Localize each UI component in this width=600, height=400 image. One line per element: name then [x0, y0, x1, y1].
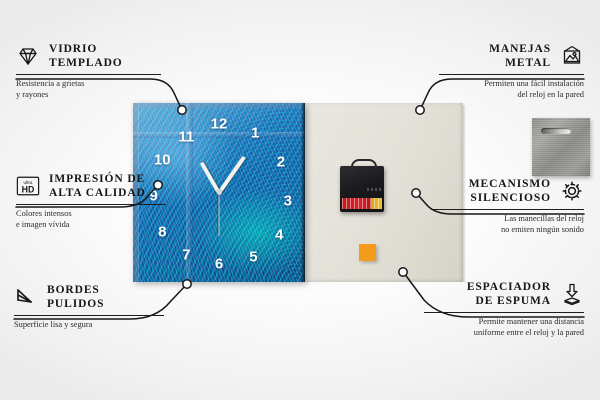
callout-rule — [424, 312, 584, 313]
clock-edge — [301, 103, 305, 282]
diamond-icon — [16, 44, 40, 68]
clock-numeral: 11 — [178, 130, 194, 145]
callout-rule — [439, 74, 584, 75]
clock-second-hand — [219, 193, 220, 237]
infographic-canvas: 12 1 2 3 4 5 6 7 8 9 10 11 — [0, 0, 600, 400]
callout-desc: Permiten una fácil instalación del reloj… — [439, 78, 584, 100]
callout-desc: Resistencia a grietas y rayones — [16, 78, 161, 100]
callout-mechanism: MECANISMO SILENCIOSO Las manecillas del … — [431, 177, 584, 235]
clock-numeral: 1 — [251, 126, 259, 141]
callout-handles: MANEJAS METAL Permiten una fácil instala… — [439, 42, 584, 100]
callout-rule — [431, 209, 584, 210]
callout-glass: VIDRIO TEMPLADO Resistencia a grietas y … — [16, 42, 161, 100]
mechanism-handle — [351, 159, 377, 171]
metal-hanger-plate — [532, 118, 590, 176]
callout-head: ultra HD IMPRESIÓN DE ALTA CALIDAD — [16, 172, 166, 200]
callout-spacer: ESPACIADOR DE ESPUMA Permite mantener un… — [424, 280, 584, 338]
callout-title: VIDRIO TEMPLADO — [49, 42, 123, 70]
foam-spacer — [359, 244, 376, 261]
clock-numeral: 4 — [275, 228, 283, 243]
hanger-slot — [541, 128, 571, 134]
callout-head: MANEJAS METAL — [439, 42, 584, 70]
callout-head: BORDES PULIDOS — [14, 283, 164, 311]
callout-desc: Colores intensos e imagen vívida — [16, 208, 166, 230]
callout-head: VIDRIO TEMPLADO — [16, 42, 161, 70]
callout-title: MANEJAS METAL — [489, 42, 551, 70]
picture-frame-icon — [560, 44, 584, 68]
callout-desc: Superficie lisa y segura — [14, 319, 164, 330]
callout-desc: Permite mantener una distancia uniforme … — [424, 316, 584, 338]
mechanism-label — [342, 198, 382, 209]
callout-head: ESPACIADOR DE ESPUMA — [424, 280, 584, 308]
callout-edges: BORDES PULIDOS Superficie lisa y segura — [14, 283, 164, 330]
polished-edges-icon — [14, 285, 38, 309]
ultra-hd-icon: ultra HD — [16, 174, 40, 198]
callout-title: ESPACIADOR DE ESPUMA — [467, 280, 551, 308]
callout-title: MECANISMO SILENCIOSO — [469, 177, 551, 205]
product-photo: 12 1 2 3 4 5 6 7 8 9 10 11 — [133, 103, 463, 282]
mechanism-detail — [367, 188, 381, 191]
callout-head: MECANISMO SILENCIOSO — [431, 177, 584, 205]
callout-rule — [16, 74, 161, 75]
callout-rule — [14, 315, 164, 316]
clock-numeral: 3 — [284, 194, 292, 209]
callout-title: BORDES PULIDOS — [47, 283, 104, 311]
svg-text:HD: HD — [22, 184, 35, 194]
clock-numeral: 6 — [215, 257, 223, 272]
callout-title: IMPRESIÓN DE ALTA CALIDAD — [49, 172, 146, 200]
callout-rule — [16, 204, 166, 205]
clock-numeral: 5 — [249, 249, 257, 264]
clock-numeral: 7 — [182, 248, 190, 263]
clock-mechanism-box — [340, 166, 384, 212]
gear-icon — [560, 179, 584, 203]
callout-print: ultra HD IMPRESIÓN DE ALTA CALIDAD Color… — [16, 172, 166, 230]
clock-numeral: 2 — [277, 155, 285, 170]
clock-numeral: 12 — [211, 117, 228, 132]
foam-spacer-icon — [560, 282, 584, 306]
clock-center-pin — [217, 190, 222, 195]
callout-desc: Las manecillas del reloj no emiten ningú… — [431, 213, 584, 235]
clock-numeral: 10 — [154, 153, 171, 168]
brushed-texture — [532, 118, 590, 176]
